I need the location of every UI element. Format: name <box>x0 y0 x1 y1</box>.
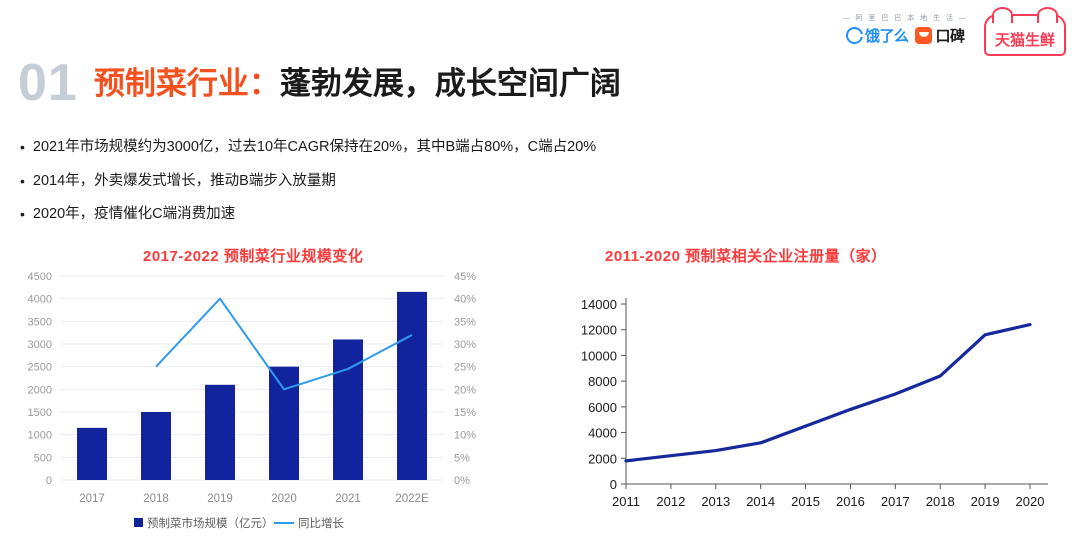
bullet-marker-icon: • <box>20 172 25 190</box>
bar <box>269 367 299 480</box>
alibaba-local-services-group: — 阿 里 巴 巴 本 地 生 活 — 饿了么 口碑 <box>842 14 968 46</box>
koubei-label: 口碑 <box>935 25 964 46</box>
y-axis-tick-label: 0 <box>46 475 52 487</box>
y-axis-tick-label: 1500 <box>28 407 52 419</box>
x-axis-tick-label: 2018 <box>926 494 955 509</box>
x-axis-tick-label: 2022E <box>395 493 429 505</box>
y-axis-tick-label: 4000 <box>588 426 617 441</box>
y-axis-tick-label: 1000 <box>28 430 52 442</box>
section-heading-highlight: 预制菜行业： <box>94 66 280 101</box>
y-axis-tick-label: 10000 <box>581 348 617 363</box>
x-axis-tick-label: 2011 <box>612 494 640 509</box>
left-chart-canvas: 0500100015002000250030003500400045000%5%… <box>14 268 494 530</box>
x-axis-tick-label: 2019 <box>971 494 1000 509</box>
right-chart-title: 2011-2020 预制菜相关企业注册量（家） <box>605 245 887 266</box>
x-axis-tick-label: 2019 <box>207 493 233 505</box>
list-item-text: 2014年，外卖爆发式增长，推动B端步入放量期 <box>33 172 336 192</box>
right-line-chart: 0200040006000800010000120001400020112012… <box>560 290 1070 530</box>
y2-axis-tick-label: 0% <box>454 475 470 487</box>
data-line <box>626 325 1030 461</box>
left-chart-title: 2017-2022 预制菜行业规模变化 <box>143 245 363 266</box>
x-axis-tick-label: 2020 <box>1016 494 1045 509</box>
brand-logo-bar: — 阿 里 巴 巴 本 地 生 活 — 饿了么 口碑 天猫生鲜 <box>842 14 1066 56</box>
eleme-label: 饿了么 <box>865 25 909 46</box>
y-axis-tick-label: 4000 <box>28 294 52 306</box>
list-item: • 2014年，外卖爆发式增长，推动B端步入放量期 <box>20 172 596 192</box>
y-axis-tick-label: 0 <box>610 477 617 492</box>
eleme-logo-icon: 饿了么 <box>846 25 909 46</box>
x-axis-tick-label: 2012 <box>656 494 685 509</box>
x-axis-tick-label: 2015 <box>791 494 820 509</box>
bar <box>205 385 235 480</box>
tmall-fresh-logo-icon: 天猫生鲜 <box>984 14 1066 56</box>
bar <box>77 428 107 480</box>
tmall-fresh-label: 天猫生鲜 <box>995 29 1055 50</box>
x-axis-tick-label: 2021 <box>335 493 361 505</box>
y2-axis-tick-label: 5% <box>454 452 470 464</box>
y2-axis-tick-label: 30% <box>454 339 476 351</box>
bullet-list: • 2021年市场规模约为3000亿，过去10年CAGR保持在20%，其中B端占… <box>20 138 596 239</box>
koubei-smile-icon <box>915 27 932 44</box>
x-axis-tick-label: 2017 <box>79 493 105 505</box>
eleme-circle-icon <box>846 27 863 44</box>
x-axis-tick-label: 2018 <box>143 493 169 505</box>
y2-axis-tick-label: 20% <box>454 384 476 396</box>
section-heading: 预制菜行业：蓬勃发展，成长空间广阔 <box>94 68 621 99</box>
list-item: • 2020年，疫情催化C端消费加速 <box>20 205 596 225</box>
y2-axis-tick-label: 10% <box>454 430 476 442</box>
y-axis-tick-label: 6000 <box>588 400 617 415</box>
bar <box>397 292 427 480</box>
y2-axis-tick-label: 40% <box>454 294 476 306</box>
bullet-marker-icon: • <box>20 205 25 223</box>
x-axis-tick-label: 2020 <box>271 493 297 505</box>
left-combo-chart: 0500100015002000250030003500400045000%5%… <box>14 268 494 530</box>
y-axis-tick-label: 12000 <box>581 323 617 338</box>
x-axis-tick-label: 2017 <box>881 494 910 509</box>
section-heading-rest: 蓬勃发展，成长空间广阔 <box>280 66 621 101</box>
x-axis-tick-label: 2014 <box>746 494 775 509</box>
legend-swatch-bar <box>134 518 143 527</box>
y-axis-tick-label: 3500 <box>28 316 52 328</box>
bar <box>333 339 363 480</box>
y2-axis-tick-label: 35% <box>454 316 476 328</box>
section-number: 01 <box>18 57 78 109</box>
y-axis-tick-label: 8000 <box>588 374 617 389</box>
bar <box>141 412 171 480</box>
y2-axis-tick-label: 15% <box>454 407 476 419</box>
y2-axis-tick-label: 45% <box>454 271 476 283</box>
y-axis-tick-label: 14000 <box>581 297 617 312</box>
legend-label-bar: 预制菜市场规模（亿元） <box>147 516 274 530</box>
list-item-text: 2021年市场规模约为3000亿，过去10年CAGR保持在20%，其中B端占80… <box>33 138 596 158</box>
list-item: • 2021年市场规模约为3000亿，过去10年CAGR保持在20%，其中B端占… <box>20 138 596 158</box>
x-axis-tick-label: 2013 <box>701 494 730 509</box>
y2-axis-tick-label: 25% <box>454 362 476 374</box>
slide-root: — 阿 里 巴 巴 本 地 生 活 — 饿了么 口碑 天猫生鲜 01 预制菜行业… <box>0 0 1080 542</box>
y-axis-tick-label: 2000 <box>28 384 52 396</box>
page-title: 01 预制菜行业：蓬勃发展，成长空间广阔 <box>18 57 621 109</box>
y-axis-tick-label: 500 <box>34 452 52 464</box>
bullet-marker-icon: • <box>20 138 25 156</box>
y-axis-tick-label: 2000 <box>588 451 617 466</box>
right-chart-canvas: 0200040006000800010000120001400020112012… <box>560 290 1070 530</box>
y-axis-tick-label: 4500 <box>28 271 52 283</box>
y-axis-tick-label: 2500 <box>28 362 52 374</box>
legend-label-line: 同比增长 <box>298 516 344 530</box>
eleme-koubei-row: 饿了么 口碑 <box>846 25 965 46</box>
x-axis-tick-label: 2016 <box>836 494 865 509</box>
list-item-text: 2020年，疫情催化C端消费加速 <box>33 205 235 225</box>
koubei-logo-icon: 口碑 <box>915 25 964 46</box>
alibaba-local-tagline: — 阿 里 巴 巴 本 地 生 活 — <box>842 14 968 24</box>
y-axis-tick-label: 3000 <box>28 339 52 351</box>
